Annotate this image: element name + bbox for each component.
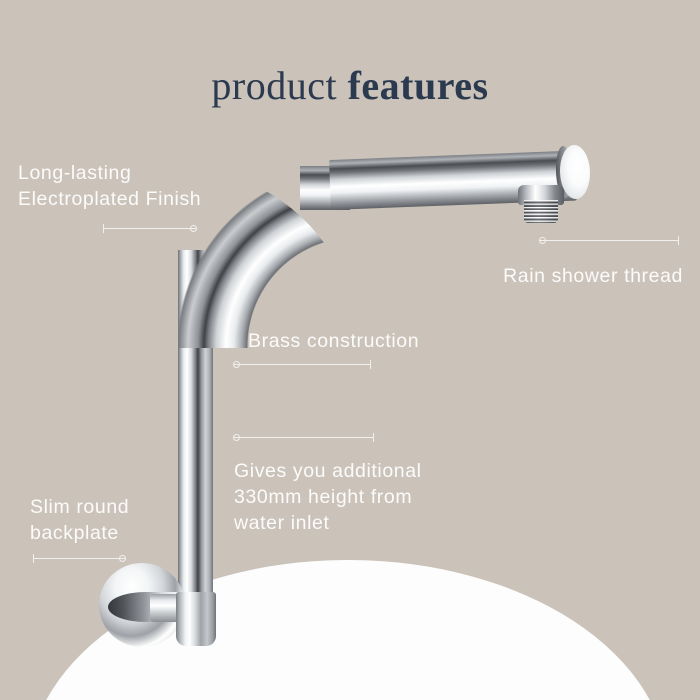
leader-line-additional-height <box>233 432 374 443</box>
leader-line-slim-round-backplate <box>33 553 126 564</box>
threaded-outlet <box>524 200 558 223</box>
callout-label-additional-height: Gives you additional 330mm height from w… <box>234 458 494 536</box>
leader-bar <box>539 240 679 241</box>
leader-bar <box>33 558 126 559</box>
riser-base-sleeve <box>176 592 216 646</box>
leader-dot <box>233 361 240 368</box>
leader-tick <box>33 554 34 563</box>
leader-tick <box>678 236 679 245</box>
leader-bar <box>233 364 371 365</box>
leader-dot <box>119 555 126 562</box>
leader-line-electroplated-finish <box>103 223 197 234</box>
leader-tick <box>103 224 104 233</box>
leader-dot <box>539 237 546 244</box>
leader-dot <box>233 434 240 441</box>
callout-label-electroplated-finish: Long-lasting Electroplated Finish <box>18 160 248 212</box>
leader-bar <box>103 228 197 229</box>
leader-line-brass-construction <box>233 359 371 370</box>
leader-dot <box>190 225 197 232</box>
callout-label-rain-shower-thread: Rain shower thread <box>423 263 683 289</box>
product-features-infographic: product features Long-lasting Electropla… <box>0 0 700 700</box>
callout-label-brass-construction: Brass construction <box>248 328 498 354</box>
leader-tick <box>373 433 374 442</box>
callout-label-slim-round-backplate: Slim round backplate <box>30 494 230 546</box>
leader-tick <box>370 360 371 369</box>
leader-line-rain-shower-thread <box>539 235 679 246</box>
leader-bar <box>233 437 374 438</box>
